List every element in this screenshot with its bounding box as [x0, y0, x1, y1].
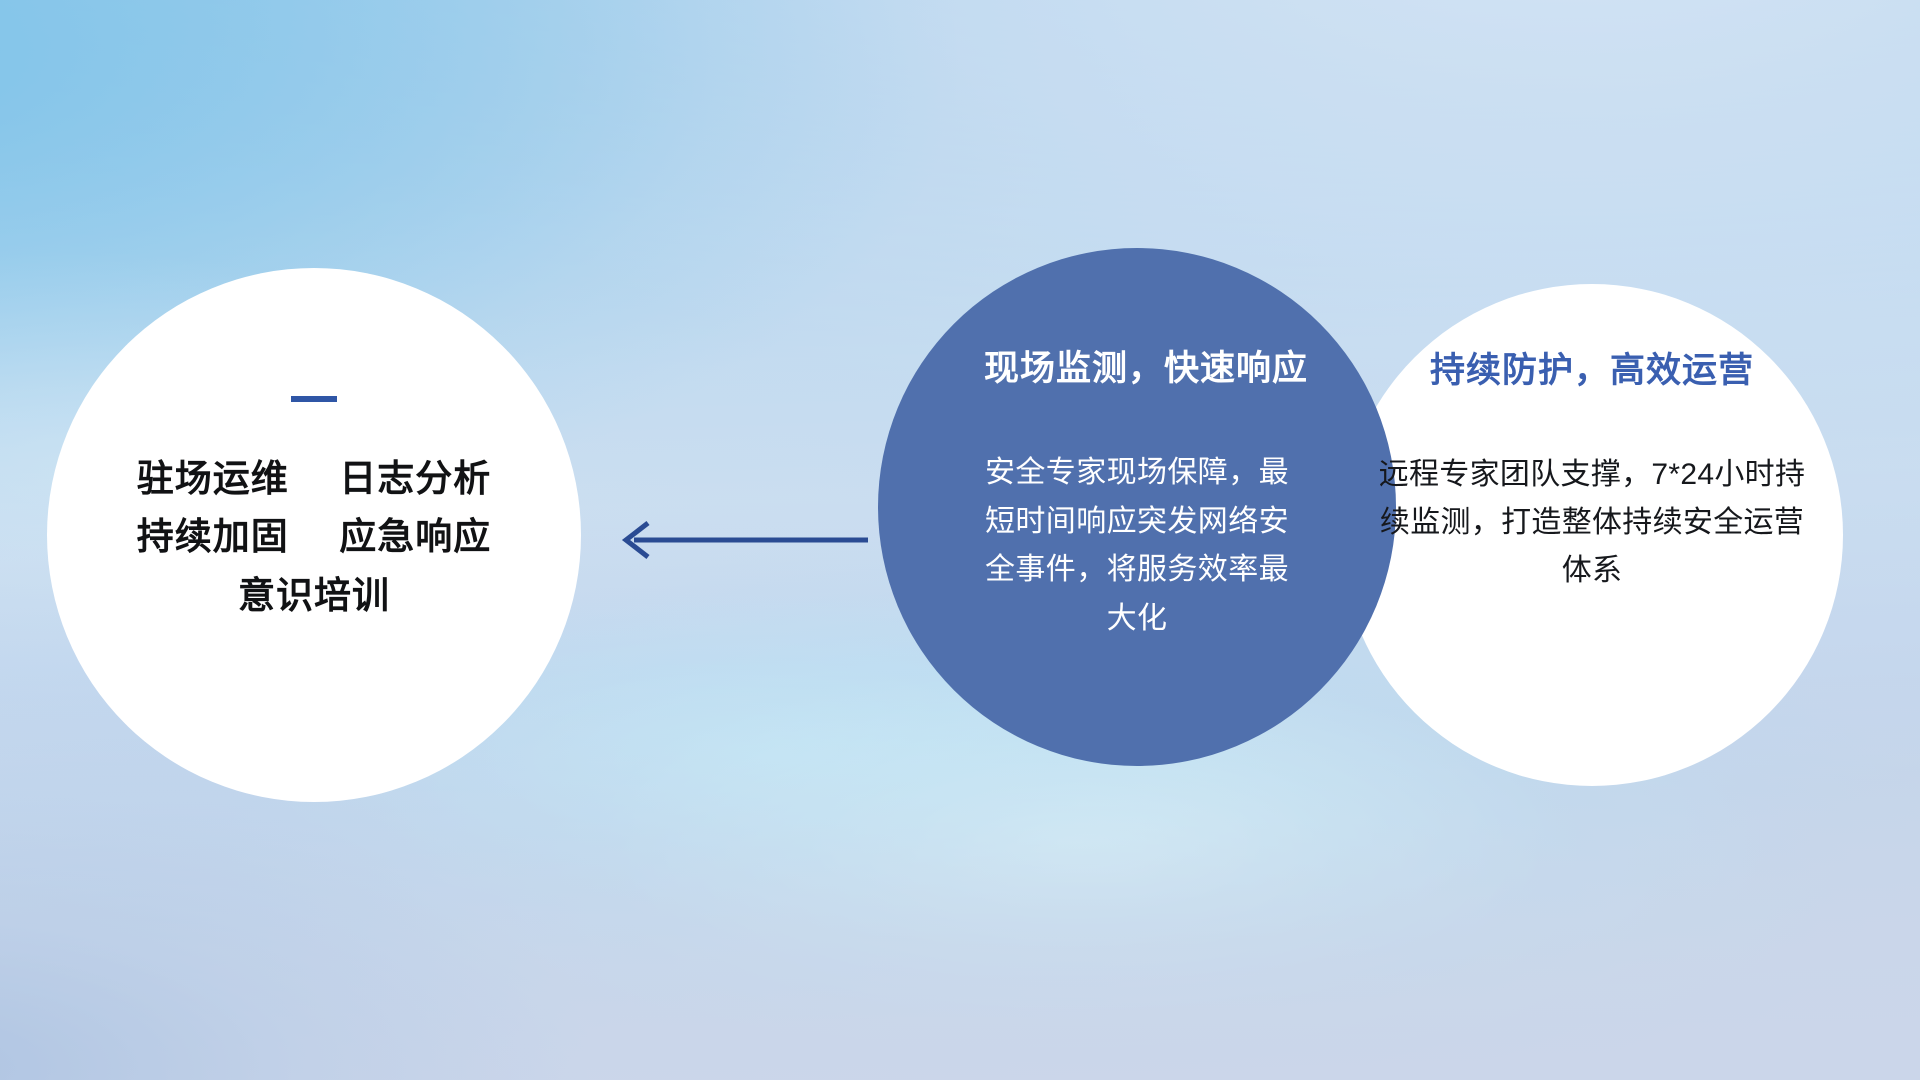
keyword-zhuchangyunwei: 驻场运维	[137, 458, 289, 499]
left-circle-keyword-list: 驻场运维 日志分析 持续加固 应急响应 意识培训	[137, 450, 492, 625]
right-circle-title: 持续防护，高效运营	[1430, 342, 1754, 393]
left-circle-content: 驻场运维 日志分析 持续加固 应急响应 意识培训	[47, 268, 581, 802]
middle-circle-body: 安全专家现场保障，最短时间响应突发网络安全事件，将服务效率最大化	[980, 449, 1294, 643]
right-circle-body: 远程专家团队支撑，7*24小时持续监测，打造整体持续安全运营体系	[1371, 451, 1813, 595]
keyword-yingjixiangying: 应急响应	[339, 516, 491, 557]
horizontal-dash-icon	[291, 396, 337, 402]
keyword-chixujiagu: 持续加固	[137, 516, 289, 557]
left-circle-keyword-row-2: 持续加固 应急响应	[137, 508, 492, 566]
left-circle-keyword-row-1: 驻场运维 日志分析	[137, 450, 492, 508]
left-circle-keyword-row-3: 意识培训	[137, 567, 492, 625]
infographic-canvas: 驻场运维 日志分析 持续加固 应急响应 意识培训 现场监测，快速响应 安全专家现…	[0, 0, 1920, 1080]
middle-circle-content: 现场监测，快速响应 安全专家现场保障，最短时间响应突发网络安全事件，将服务效率最…	[878, 248, 1396, 766]
right-circle-content: 持续防护，高效运营 远程专家团队支撑，7*24小时持续监测，打造整体持续安全运营…	[1341, 284, 1843, 786]
arrow-left-icon	[600, 505, 872, 575]
keyword-yishipeixun: 意识培训	[238, 575, 390, 616]
middle-circle-title: 现场监测，快速响应	[966, 340, 1308, 391]
keyword-rizhifenxi: 日志分析	[339, 458, 491, 499]
